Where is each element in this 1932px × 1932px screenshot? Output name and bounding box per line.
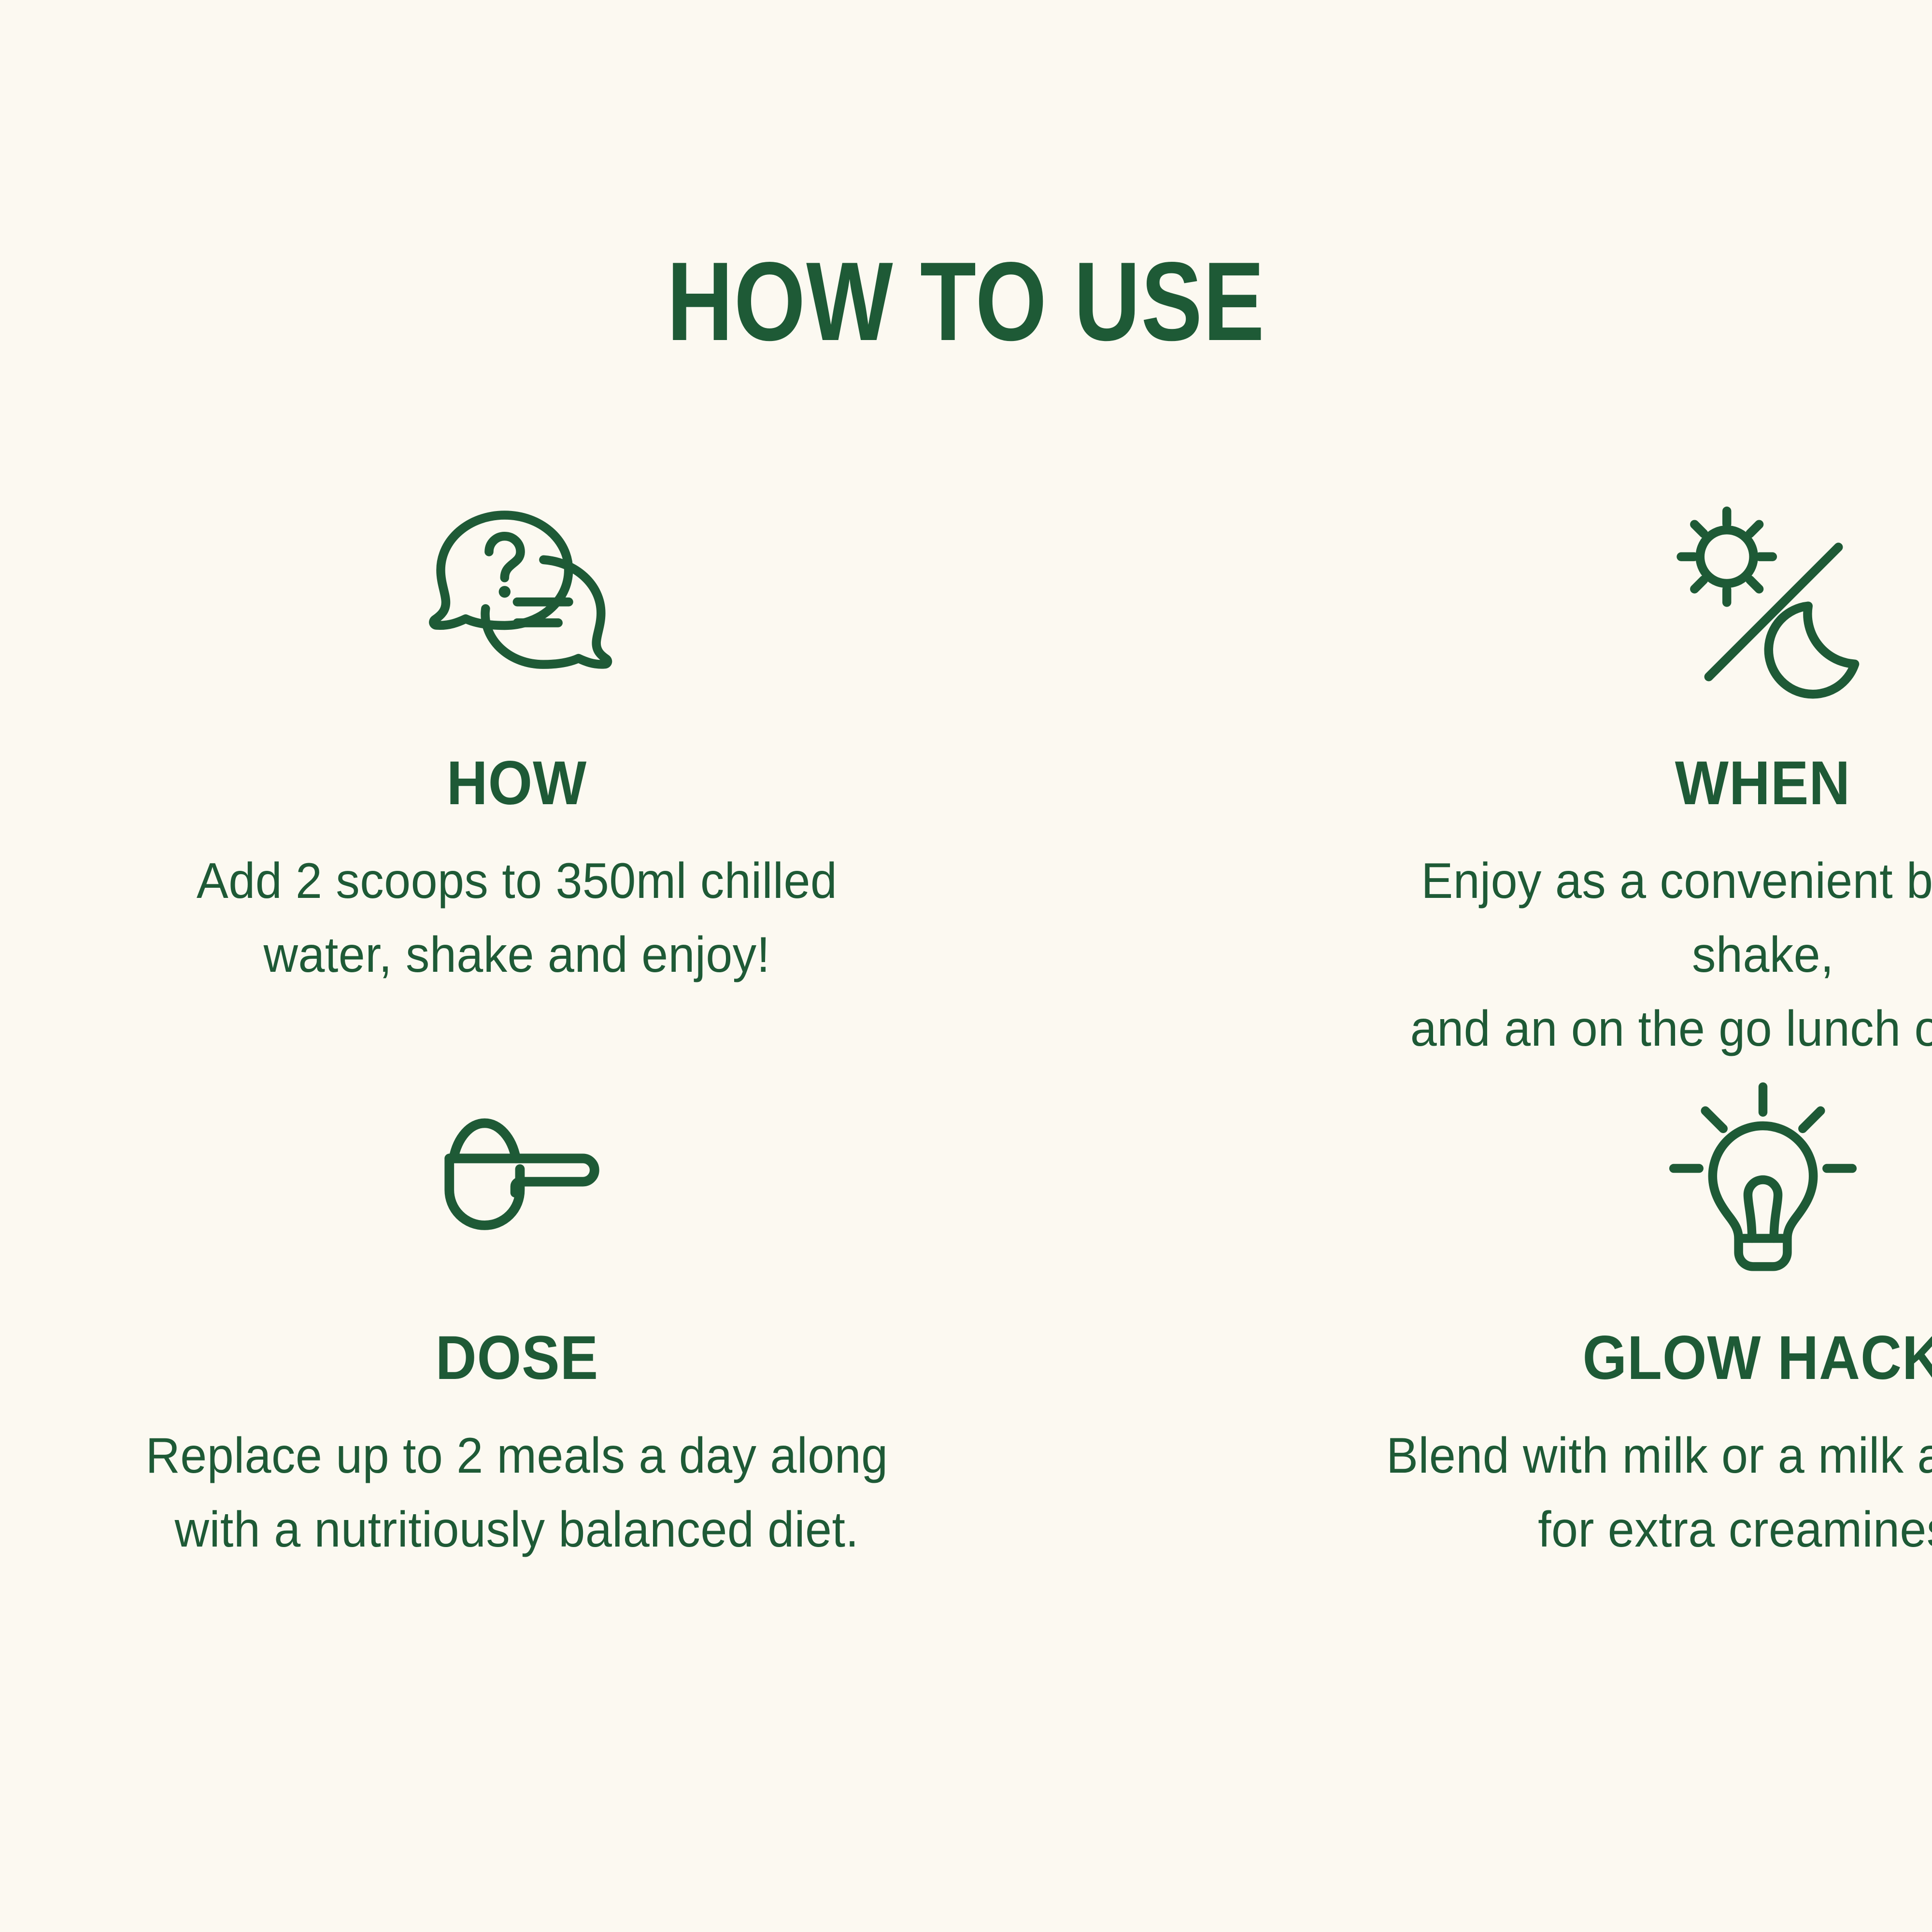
- card-how: HOW Add 2 scoops to 350ml chilled water,…: [0, 488, 966, 1063]
- card-title-when: WHEN: [1675, 753, 1850, 814]
- card-body-line-1: Replace up to 2 meals a day along: [145, 1428, 888, 1484]
- how-to-use-infographic: HOW TO USE HOW: [0, 0, 1932, 1932]
- card-dose: DOSE Replace up to 2 meals a day along w…: [0, 1063, 966, 1637]
- speech-bubbles-question-icon: [415, 488, 618, 715]
- card-body-how: Add 2 scoops to 350ml chilled water, sha…: [197, 844, 837, 992]
- card-body-dose: Replace up to 2 meals a day along with a…: [145, 1419, 888, 1567]
- sun-moon-icon: [1657, 488, 1869, 715]
- card-title-how: HOW: [447, 753, 587, 814]
- page-title: HOW TO USE: [174, 245, 1758, 359]
- card-body-line-1: Enjoy as a convenient breakfast shake,: [1421, 853, 1932, 983]
- cards-grid: HOW Add 2 scoops to 350ml chilled water,…: [0, 488, 1932, 1637]
- card-body-glow-hack: Blend with milk or a milk alternative fo…: [1386, 1419, 1932, 1567]
- card-body-when: Enjoy as a convenient breakfast shake, a…: [1346, 844, 1932, 1066]
- card-body-line-2: and an on the go lunch or dinner.: [1410, 1001, 1932, 1057]
- card-when: WHEN Enjoy as a convenient breakfast sha…: [966, 488, 1932, 1063]
- card-glow-hack: GLOW HACK Blend with milk or a milk alte…: [966, 1063, 1932, 1637]
- card-title-dose: DOSE: [435, 1327, 598, 1389]
- card-title-glow-hack: GLOW HACK: [1582, 1327, 1932, 1389]
- card-body-line-1: Add 2 scoops to 350ml chilled: [197, 853, 837, 909]
- card-body-line-2: with a nutritiously balanced diet.: [175, 1502, 859, 1558]
- card-body-line-2: water, shake and enjoy!: [263, 927, 770, 983]
- card-body-line-2: for extra creaminess.: [1538, 1502, 1932, 1558]
- measuring-scoop-icon: [413, 1063, 621, 1290]
- lightbulb-icon: [1662, 1063, 1864, 1290]
- card-body-line-1: Blend with milk or a milk alternative: [1386, 1428, 1932, 1484]
